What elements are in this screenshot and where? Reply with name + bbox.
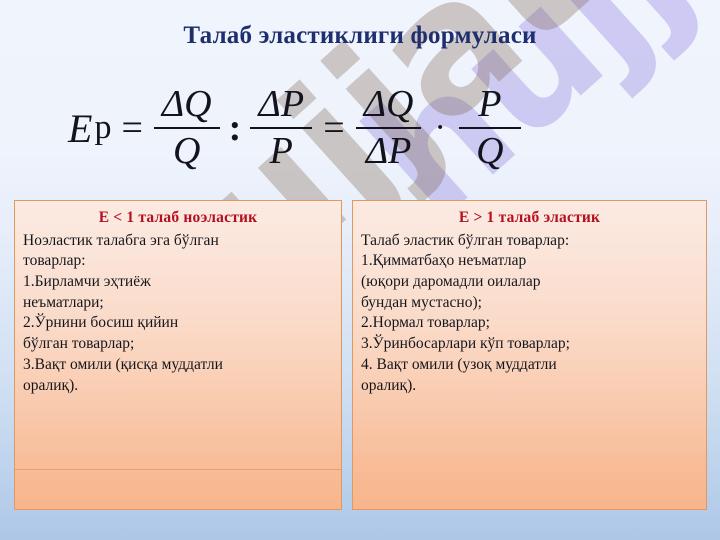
panel-inelastic-line: Ноэластик талабга эга бўлган	[23, 231, 333, 252]
panel-inelastic-line: 3.Вақт омили (қисқа муддатли	[23, 355, 333, 376]
panel-inelastic-line: неъматлари;	[23, 293, 333, 314]
panel-inelastic-line: товарлар:	[23, 251, 333, 272]
formula-symbol-e: E	[68, 105, 92, 152]
panel-elastic: E > 1 талаб эластик Талаб эластик бўлган…	[352, 200, 707, 510]
fraction-2-denominator: P	[262, 131, 301, 171]
formula-multiply-operator: ·	[424, 111, 455, 145]
panel-inelastic-line: оралиқ).	[23, 376, 333, 397]
fraction-4-bar	[459, 127, 521, 129]
panel-elastic-line: 2.Нормал товарлар;	[361, 313, 698, 334]
panel-elastic-line: 1.Қимматбаҳо неъматлар	[361, 251, 698, 272]
formula-fraction-1: ΔQ Q	[154, 85, 220, 171]
panel-inelastic-line: 1.Бирламчи эҳтиёж	[23, 272, 333, 293]
formula-equals-1: =	[113, 106, 150, 150]
panel-elastic-line: 3.Ўринбосарлари кўп товарлар;	[361, 334, 698, 355]
panel-elastic-body: Талаб эластик бўлган товарлар: 1.Қимматб…	[361, 231, 698, 397]
panel-inelastic: E < 1 талаб ноэластик Ноэластик талабга …	[14, 200, 342, 510]
fraction-4-denominator: Q	[468, 131, 511, 171]
panel-inelastic-line: 2.Ўрнини босиш қийин	[23, 313, 333, 334]
fraction-3-denominator: ΔP	[358, 131, 420, 171]
formula-fraction-4: P Q	[459, 85, 521, 171]
fraction-2-bar	[250, 127, 312, 129]
fraction-1-numerator: ΔQ	[154, 85, 220, 125]
panel-elastic-line: (юқори даромадли оилалар	[361, 272, 698, 293]
formula-ratio-operator: :	[223, 106, 248, 150]
panel-inelastic-heading: E < 1 талаб ноэластик	[23, 208, 333, 229]
fraction-1-denominator: Q	[165, 131, 208, 171]
panel-elastic-line: оралиқ).	[361, 376, 698, 397]
panel-elastic-line: бундан мустасно);	[361, 293, 698, 314]
panel-inelastic-divider	[15, 469, 341, 470]
panel-elastic-heading: E > 1 талаб эластик	[361, 208, 698, 229]
fraction-1-bar	[154, 127, 220, 129]
formula-equals-2: =	[315, 106, 352, 150]
elasticity-formula: E p = ΔQ Q : ΔP P = ΔQ ΔP · P Q	[68, 78, 668, 178]
panel-inelastic-body: Ноэластик талабга эга бўлган товарлар: 1…	[23, 231, 333, 397]
slide-title: Талаб эластиклиги формуласи	[0, 22, 720, 50]
panel-elastic-line: Талаб эластик бўлган товарлар:	[361, 231, 698, 252]
formula-fraction-2: ΔP P	[250, 85, 312, 171]
fraction-3-bar	[356, 127, 422, 129]
fraction-4-numerator: P	[470, 85, 509, 125]
formula-subscript-p: p	[94, 109, 111, 147]
fraction-3-numerator: ΔQ	[356, 85, 422, 125]
formula-fraction-3: ΔQ ΔP	[356, 85, 422, 171]
slide-canvas: hujjat.uz hujjat.uz Талаб эластиклиги фо…	[0, 0, 720, 540]
panel-inelastic-line: бўлган товарлар;	[23, 334, 333, 355]
fraction-2-numerator: ΔP	[251, 85, 313, 125]
panel-elastic-line: 4. Вақт омили (узоқ муддатли	[361, 355, 698, 376]
